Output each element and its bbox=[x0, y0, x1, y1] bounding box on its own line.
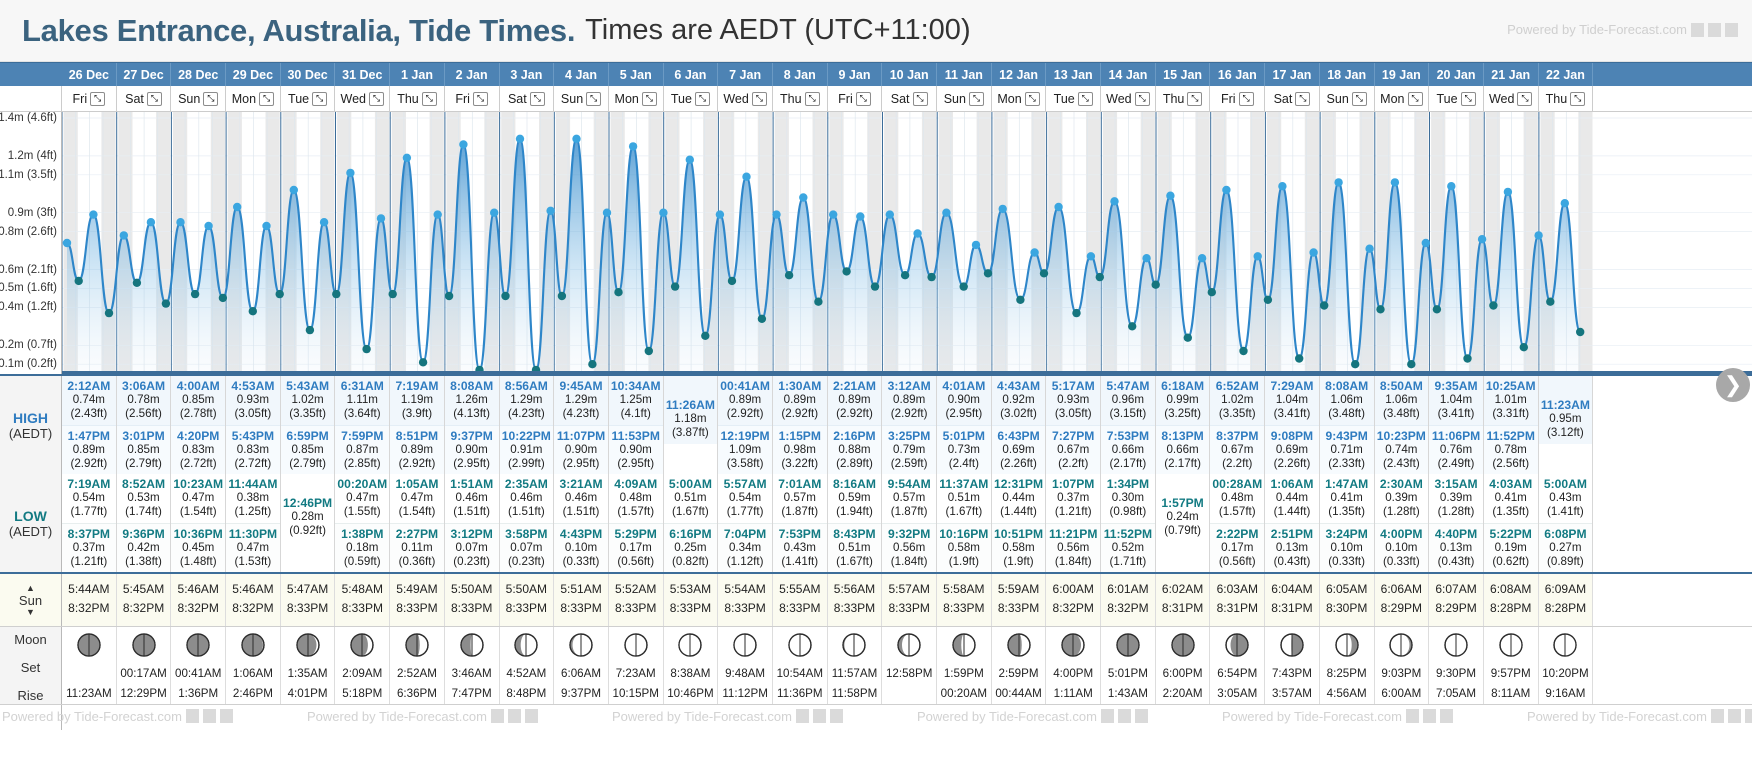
low-tide-height-ft: (1.77ft) bbox=[62, 505, 116, 519]
weekday-label: Mon bbox=[232, 92, 256, 106]
weekday-cell[interactable]: Tue⤡ bbox=[1046, 86, 1101, 111]
date-header-cell[interactable]: 15 Jan bbox=[1156, 63, 1211, 86]
moon-phase-icon bbox=[568, 632, 594, 658]
share-icon[interactable] bbox=[203, 709, 216, 723]
weekday-cell[interactable]: Wed⤡ bbox=[335, 86, 390, 111]
info-icon[interactable] bbox=[1745, 709, 1752, 723]
tide-day-column: 2:30AM0.39m(1.28ft)4:00PM0.10m(0.33ft) bbox=[1375, 474, 1430, 572]
moon-cell: 6:54PM3:05AM bbox=[1210, 627, 1265, 704]
sun-times-cell: 5:47AM8:33PM bbox=[281, 574, 336, 625]
moon-cell: 8:25PM4:56AM bbox=[1320, 627, 1375, 704]
footer-powered-label: Powered by Tide-Forecast.com bbox=[917, 709, 1097, 724]
moon-phase-icon bbox=[1006, 632, 1032, 658]
weekday-cell[interactable]: Sun⤡ bbox=[1320, 86, 1375, 111]
low-tide-height-ft: (1.21ft) bbox=[62, 555, 116, 569]
weekday-label: Thu bbox=[397, 92, 419, 106]
high-tide-height-ft: (2.92ft) bbox=[62, 457, 116, 471]
high-tide-height-m: 0.67m bbox=[1046, 443, 1100, 457]
sunset-time: 8:32PM bbox=[226, 599, 280, 618]
low-tide-entry: 2:35AM0.46m(1.51ft) bbox=[500, 474, 554, 523]
moonset-time: 8:25PM bbox=[1320, 664, 1374, 684]
weekday-cell[interactable]: Fri⤡ bbox=[1210, 86, 1265, 111]
low-tide-entry: 5:57AM0.54m(1.77ft) bbox=[718, 474, 772, 523]
date-axis-spacer bbox=[0, 63, 62, 86]
high-tide-height-ft: (2.4ft) bbox=[937, 457, 991, 471]
low-tide-height-ft: (1.35ft) bbox=[1320, 505, 1374, 519]
share-icon[interactable] bbox=[1118, 709, 1131, 723]
tide-day-column: 9:35AM1.04m(3.41ft)11:06PM0.76m(2.49ft) bbox=[1429, 376, 1484, 474]
low-tide-section: LOW (AEDT) 7:19AM0.54m(1.77ft)8:37PM0.37… bbox=[0, 474, 1752, 572]
low-tide-entry: 9:54AM0.57m(1.87ft) bbox=[882, 474, 936, 523]
high-tide-height-m: 0.79m bbox=[882, 443, 936, 457]
expand-day-icon[interactable]: ⤡ bbox=[1187, 92, 1202, 106]
high-tide-height-m: 0.88m bbox=[828, 443, 882, 457]
high-tide-time: 6:18AM bbox=[1156, 379, 1210, 393]
tide-day-column: 5:00AM0.43m(1.41ft)6:08PM0.27m(0.89ft) bbox=[1539, 474, 1594, 572]
low-tide-height-ft: (1.35ft) bbox=[1484, 505, 1538, 519]
low-tide-height-ft: (1.41ft) bbox=[773, 555, 827, 569]
moonrise-time: 4:56AM bbox=[1320, 684, 1374, 704]
low-tide-height-ft: (1.67ft) bbox=[828, 555, 882, 569]
tide-day-column: 10:23AM0.47m(1.54ft)10:36PM0.45m(1.48ft) bbox=[171, 474, 226, 572]
high-tide-height-m: 0.99m bbox=[1156, 393, 1210, 407]
share-icon[interactable] bbox=[1423, 709, 1436, 723]
low-tide-height-m: 0.58m bbox=[992, 541, 1046, 555]
sunrise-time: 5:58AM bbox=[937, 580, 991, 599]
low-tide-entry: 7:04PM0.34m(1.12ft) bbox=[718, 523, 772, 573]
low-tide-height-m: 0.10m bbox=[1375, 541, 1429, 555]
moon-phase-icon bbox=[1388, 632, 1414, 658]
date-header-cell[interactable]: 11 Jan bbox=[937, 63, 992, 86]
expand-day-icon[interactable]: ⤡ bbox=[752, 92, 767, 106]
tide-day-column: 1:07PM0.37m(1.21ft)11:21PM0.56m(1.84ft) bbox=[1046, 474, 1101, 572]
facebook-icon[interactable] bbox=[796, 709, 809, 723]
high-tide-entry: 2:12AM0.74m(2.43ft) bbox=[62, 376, 116, 425]
info-icon[interactable] bbox=[525, 709, 538, 723]
date-header-cell[interactable]: 14 Jan bbox=[1101, 63, 1156, 86]
high-tide-height-m: 1.06m bbox=[1320, 393, 1374, 407]
moon-cell: 1:06AM2:46PM bbox=[226, 627, 281, 704]
high-tide-height-m: 0.90m bbox=[554, 443, 608, 457]
high-tide-time: 8:13PM bbox=[1156, 429, 1210, 443]
facebook-icon[interactable] bbox=[1691, 23, 1704, 37]
expand-day-icon[interactable]: ⤡ bbox=[1408, 92, 1423, 106]
date-header-cell[interactable]: 29 Dec bbox=[226, 63, 281, 86]
low-tide-height-ft: (1.55ft) bbox=[335, 505, 389, 519]
low-tide-height-m: 0.30m bbox=[1101, 491, 1155, 505]
weekday-cell[interactable]: Mon⤡ bbox=[226, 86, 281, 111]
info-icon[interactable] bbox=[830, 709, 843, 723]
high-tide-entry: 8:37PM0.67m(2.2ft) bbox=[1210, 425, 1264, 475]
high-tide-height-ft: (2.95ft) bbox=[445, 457, 499, 471]
high-tide-time: 8:56AM bbox=[500, 379, 554, 393]
high-tide-time: 7:27PM bbox=[1046, 429, 1100, 443]
low-tide-height-ft: (0.62ft) bbox=[1484, 555, 1538, 569]
expand-day-icon[interactable]: ⤡ bbox=[856, 92, 871, 106]
high-tide-height-m: 0.89m bbox=[62, 443, 116, 457]
low-tide-height-ft: (1.48ft) bbox=[171, 555, 225, 569]
sun-times-cell: 6:07AM8:29PM bbox=[1429, 574, 1484, 625]
date-header-cell[interactable]: 21 Jan bbox=[1484, 63, 1539, 86]
low-tide-entry: 1:47AM0.41m(1.35ft) bbox=[1320, 474, 1374, 523]
facebook-icon[interactable] bbox=[186, 709, 199, 723]
y-axis-tick-label: 0.1m (0.2ft) bbox=[0, 358, 57, 370]
weekday-label: Tue bbox=[1436, 92, 1457, 106]
expand-day-icon[interactable]: ⤡ bbox=[1239, 92, 1254, 106]
sunrise-time: 5:52AM bbox=[609, 580, 663, 599]
low-tide-entry: 1:51AM0.46m(1.51ft) bbox=[445, 474, 499, 523]
moon-section: Moon Set Rise 11:23AM 00:17AM12:29PM 00:… bbox=[0, 626, 1752, 704]
low-tide-time: 8:43PM bbox=[828, 527, 882, 541]
low-tide-height-ft: (1.94ft) bbox=[828, 505, 882, 519]
weekday-cell[interactable]: Tue⤡ bbox=[664, 86, 719, 111]
weekday-cell[interactable]: Thu⤡ bbox=[1156, 86, 1211, 111]
low-tide-height-ft: (0.98ft) bbox=[1101, 505, 1155, 519]
high-tide-height-m: 0.87m bbox=[335, 443, 389, 457]
weekday-cell[interactable]: Sat⤡ bbox=[882, 86, 937, 111]
low-tide-time: 10:23AM bbox=[171, 477, 225, 491]
low-tide-time: 8:37PM bbox=[62, 527, 116, 541]
footer-watermark: Powered by Tide-Forecast.com bbox=[917, 709, 1148, 724]
high-tide-height-ft: (2.92ft) bbox=[718, 407, 772, 421]
high-tide-entry: 11:26AM1.18m(3.87ft) bbox=[664, 376, 718, 444]
expand-day-icon[interactable]: ⤡ bbox=[1078, 92, 1093, 106]
date-header-cell[interactable]: 18 Jan bbox=[1320, 63, 1375, 86]
moon-phase-icon bbox=[896, 632, 922, 658]
tide-day-column: 1:06AM0.44m(1.44ft)2:51PM0.13m(0.43ft) bbox=[1265, 474, 1320, 572]
high-tide-time: 6:52AM bbox=[1210, 379, 1264, 393]
low-tide-time: 1:05AM bbox=[390, 477, 444, 491]
high-tide-entry: 9:35AM1.04m(3.41ft) bbox=[1429, 376, 1483, 425]
date-header-cell[interactable]: 16 Jan bbox=[1210, 63, 1265, 86]
moon-label: Moon Set Rise bbox=[0, 627, 62, 704]
high-tide-height-m: 0.90m bbox=[445, 443, 499, 457]
share-icon[interactable] bbox=[508, 709, 521, 723]
sunset-time: 8:33PM bbox=[445, 599, 499, 618]
moon-cell: 1:35AM4:01PM bbox=[281, 627, 336, 704]
sun-times-cell: 5:56AM8:33PM bbox=[828, 574, 883, 625]
low-tide-entry: 7:19AM0.54m(1.77ft) bbox=[62, 474, 116, 523]
weekday-label: Thu bbox=[780, 92, 802, 106]
weekday-label: Sun bbox=[561, 92, 583, 106]
high-tide-entry: 6:59PM0.85m(2.79ft) bbox=[281, 425, 335, 475]
facebook-icon[interactable] bbox=[1711, 709, 1724, 723]
high-tide-height-m: 1.02m bbox=[281, 393, 335, 407]
tide-day-column: 12:31PM0.44m(1.44ft)10:51PM0.58m(1.9ft) bbox=[992, 474, 1047, 572]
info-icon[interactable] bbox=[1440, 709, 1453, 723]
date-header-row: 26 Dec27 Dec28 Dec29 Dec30 Dec31 Dec1 Ja… bbox=[0, 62, 1752, 86]
low-tide-time: 5:57AM bbox=[718, 477, 772, 491]
tide-day-column: 5:57AM0.54m(1.77ft)7:04PM0.34m(1.12ft) bbox=[718, 474, 773, 572]
moonset-time: 7:43PM bbox=[1265, 664, 1319, 684]
sunrise-time: 5:57AM bbox=[882, 580, 936, 599]
high-tide-height-m: 1.04m bbox=[1429, 393, 1483, 407]
expand-day-icon[interactable]: ⤡ bbox=[695, 92, 710, 106]
moonrise-time: 3:05AM bbox=[1210, 684, 1264, 704]
low-tide-height-m: 0.07m bbox=[500, 541, 554, 555]
moon-cell: 10:20PM9:16AM bbox=[1539, 627, 1594, 704]
high-tide-section: HIGH (AEDT) 2:12AM0.74m(2.43ft)1:47PM0.8… bbox=[0, 374, 1752, 474]
low-tide-height-ft: (1.67ft) bbox=[937, 505, 991, 519]
weekday-cell[interactable]: Thu⤡ bbox=[390, 86, 445, 111]
high-tide-entry: 6:18AM0.99m(3.25ft) bbox=[1156, 376, 1210, 425]
expand-day-icon[interactable]: ⤡ bbox=[369, 92, 384, 106]
expand-day-icon[interactable]: ⤡ bbox=[1570, 92, 1585, 106]
date-header-cell[interactable]: 4 Jan bbox=[554, 63, 609, 86]
weekday-cell[interactable]: Thu⤡ bbox=[773, 86, 828, 111]
high-tide-entry: 10:22PM0.91m(2.99ft) bbox=[500, 425, 554, 475]
low-tide-entry: 00:28AM0.48m(1.57ft) bbox=[1210, 474, 1264, 523]
weekday-cell[interactable]: Wed⤡ bbox=[1484, 86, 1539, 111]
sunrise-time: 6:07AM bbox=[1429, 580, 1483, 599]
expand-day-icon[interactable]: ⤡ bbox=[147, 92, 162, 106]
weekday-label: Tue bbox=[288, 92, 309, 106]
sun-times-cell: 5:45AM8:32PM bbox=[117, 574, 172, 625]
low-tide-entry: 5:29PM0.17m(0.56ft) bbox=[609, 523, 663, 573]
info-icon[interactable] bbox=[1135, 709, 1148, 723]
moonrise-time: 2:20AM bbox=[1156, 684, 1210, 704]
expand-day-icon[interactable]: ⤡ bbox=[530, 92, 545, 106]
tide-day-column: 7:19AM1.19m(3.9ft)8:51PM0.89m(2.92ft) bbox=[390, 376, 445, 474]
share-icon[interactable] bbox=[1728, 709, 1741, 723]
high-tide-time: 3:25PM bbox=[882, 429, 936, 443]
high-tide-time: 3:01PM bbox=[117, 429, 171, 443]
sunset-time: 8:33PM bbox=[281, 599, 335, 618]
high-tide-time: 2:21AM bbox=[828, 379, 882, 393]
expand-day-icon[interactable]: ⤡ bbox=[473, 92, 488, 106]
info-icon[interactable] bbox=[220, 709, 233, 723]
high-tide-height-m: 0.98m bbox=[773, 443, 827, 457]
expand-day-icon[interactable]: ⤡ bbox=[586, 92, 601, 106]
date-header-cell[interactable]: 12 Jan bbox=[992, 63, 1047, 86]
low-tide-height-m: 0.46m bbox=[445, 491, 499, 505]
facebook-icon[interactable] bbox=[1101, 709, 1114, 723]
date-header-cell[interactable]: 5 Jan bbox=[609, 63, 664, 86]
moonrise-time: 00:44AM bbox=[992, 684, 1046, 704]
moonset-time: 00:41AM bbox=[171, 664, 225, 684]
low-tide-entry: 4:03AM0.41m(1.35ft) bbox=[1484, 474, 1538, 523]
next-days-button[interactable]: ❯ bbox=[1716, 368, 1750, 402]
weekday-cell[interactable]: Sun⤡ bbox=[937, 86, 992, 111]
low-tide-time: 11:44AM bbox=[226, 477, 280, 491]
moon-phase-icon bbox=[1060, 632, 1086, 658]
powered-by-header: Powered by Tide-Forecast.com bbox=[1507, 22, 1738, 37]
low-tide-entry: 11:52PM0.52m(1.71ft) bbox=[1101, 523, 1155, 573]
date-header-cell[interactable]: 8 Jan bbox=[773, 63, 828, 86]
moonset-time: 8:38AM bbox=[664, 664, 718, 684]
high-tide-time: 3:06AM bbox=[117, 379, 171, 393]
moonset-time: 1:59PM bbox=[937, 664, 991, 684]
expand-day-icon[interactable]: ⤡ bbox=[312, 92, 327, 106]
low-tide-height-m: 0.41m bbox=[1484, 491, 1538, 505]
expand-day-icon[interactable]: ⤡ bbox=[203, 92, 218, 106]
moonset-time: 2:52AM bbox=[390, 664, 444, 684]
sun-times-cell: 6:06AM8:29PM bbox=[1375, 574, 1430, 625]
moon-phase-icon bbox=[1334, 632, 1360, 658]
low-tide-entry: 11:37AM0.51m(1.67ft) bbox=[937, 474, 991, 523]
moon-cell: 11:57AM11:58PM bbox=[828, 627, 883, 704]
weekday-axis-spacer bbox=[0, 86, 62, 111]
low-tide-time: 11:30PM bbox=[226, 527, 280, 541]
high-tide-time: 5:17AM bbox=[1046, 379, 1100, 393]
date-header-cell[interactable]: 9 Jan bbox=[828, 63, 883, 86]
high-tide-time: 00:41AM bbox=[718, 379, 772, 393]
weekday-cell[interactable]: Mon⤡ bbox=[609, 86, 664, 111]
tide-day-column: 7:29AM1.04m(3.41ft)9:08PM0.69m(2.26ft) bbox=[1265, 376, 1320, 474]
high-tide-height-ft: (2.99ft) bbox=[500, 457, 554, 471]
date-header-cell[interactable]: 30 Dec bbox=[281, 63, 336, 86]
footer-watermarks: Powered by Tide-Forecast.comPowered by T… bbox=[62, 705, 1752, 730]
high-tide-height-m: 1.06m bbox=[1375, 393, 1429, 407]
weekday-label: Mon bbox=[997, 92, 1021, 106]
weekday-cell[interactable]: Sat⤡ bbox=[500, 86, 555, 111]
expand-day-icon[interactable]: ⤡ bbox=[1517, 92, 1532, 106]
expand-day-icon[interactable]: ⤡ bbox=[1025, 92, 1040, 106]
expand-day-icon[interactable]: ⤡ bbox=[422, 92, 437, 106]
low-tide-time: 2:51PM bbox=[1265, 527, 1319, 541]
expand-day-icon[interactable]: ⤡ bbox=[642, 92, 657, 106]
expand-day-icon[interactable]: ⤡ bbox=[90, 92, 105, 106]
low-tide-height-ft: (1.9ft) bbox=[992, 555, 1046, 569]
high-tide-height-ft: (4.13ft) bbox=[445, 407, 499, 421]
weekday-cell[interactable]: Mon⤡ bbox=[1375, 86, 1430, 111]
sunrise-time: 5:44AM bbox=[62, 580, 116, 599]
weekday-cell[interactable]: Tue⤡ bbox=[281, 86, 336, 111]
weekday-cell[interactable]: Sat⤡ bbox=[1265, 86, 1320, 111]
date-header-cell[interactable]: 19 Jan bbox=[1375, 63, 1430, 86]
facebook-icon[interactable] bbox=[1406, 709, 1419, 723]
high-tide-time: 7:53PM bbox=[1101, 429, 1155, 443]
sunset-arrow-icon: ▼ bbox=[26, 608, 35, 617]
date-header-cell[interactable]: 13 Jan bbox=[1046, 63, 1101, 86]
date-header-cell[interactable]: 27 Dec bbox=[117, 63, 172, 86]
sunset-time: 8:31PM bbox=[1210, 599, 1264, 618]
weekday-cell[interactable]: Fri⤡ bbox=[828, 86, 883, 111]
expand-day-icon[interactable]: ⤡ bbox=[1352, 92, 1367, 106]
moon-cell: 9:48AM11:12PM bbox=[718, 627, 773, 704]
low-tide-height-m: 0.53m bbox=[117, 491, 171, 505]
weekday-label: Wed bbox=[1106, 92, 1131, 106]
low-tide-height-ft: (1.54ft) bbox=[171, 505, 225, 519]
weekday-cell[interactable]: Wed⤡ bbox=[1101, 86, 1156, 111]
date-header-cell[interactable]: 28 Dec bbox=[171, 63, 226, 86]
high-tide-height-m: 1.02m bbox=[1210, 393, 1264, 407]
high-tide-time: 6:59PM bbox=[281, 429, 335, 443]
high-tide-entry: 11:07PM0.90m(2.95ft) bbox=[554, 425, 608, 475]
low-tide-time: 1:06AM bbox=[1265, 477, 1319, 491]
expand-day-icon[interactable]: ⤡ bbox=[1135, 92, 1150, 106]
weekday-cell[interactable]: Sun⤡ bbox=[554, 86, 609, 111]
weekday-cell[interactable]: Tue⤡ bbox=[1429, 86, 1484, 111]
low-tide-entry: 3:12PM0.07m(0.23ft) bbox=[445, 523, 499, 573]
high-tide-height-m: 0.89m bbox=[773, 393, 827, 407]
date-header-cell[interactable]: 3 Jan bbox=[500, 63, 555, 86]
expand-day-icon[interactable]: ⤡ bbox=[805, 92, 820, 106]
low-tide-height-ft: (0.79ft) bbox=[1156, 524, 1210, 538]
weekday-cell[interactable]: Sat⤡ bbox=[117, 86, 172, 111]
low-tide-height-m: 0.27m bbox=[1539, 541, 1593, 555]
moon-phase-icon bbox=[513, 632, 539, 658]
low-tide-time: 1:34PM bbox=[1101, 477, 1155, 491]
date-header-cell[interactable]: 1 Jan bbox=[390, 63, 445, 86]
low-tide-height-m: 0.13m bbox=[1265, 541, 1319, 555]
low-tide-entry: 9:36PM0.42m(1.38ft) bbox=[117, 523, 171, 573]
date-header-cell[interactable]: 26 Dec bbox=[62, 63, 117, 86]
expand-day-icon[interactable]: ⤡ bbox=[259, 92, 274, 106]
facebook-icon[interactable] bbox=[491, 709, 504, 723]
moonset-time: 2:09AM bbox=[335, 664, 389, 684]
date-header-cell[interactable]: 31 Dec bbox=[335, 63, 390, 86]
low-tide-time: 1:57PM bbox=[1156, 496, 1210, 510]
info-icon[interactable] bbox=[1725, 23, 1738, 37]
high-tide-time: 11:53PM bbox=[609, 429, 663, 443]
tide-day-column: 8:08AM1.06m(3.48ft)9:43PM0.71m(2.33ft) bbox=[1320, 376, 1375, 474]
date-header-cell[interactable]: 2 Jan bbox=[445, 63, 500, 86]
sunset-time: 8:32PM bbox=[1101, 599, 1155, 618]
low-tide-time: 7:53PM bbox=[773, 527, 827, 541]
tide-day-column: 3:15AM0.39m(1.28ft)4:40PM0.13m(0.43ft) bbox=[1429, 474, 1484, 572]
sun-times-cell: 5:50AM8:33PM bbox=[500, 574, 555, 625]
low-tide-height-ft: (0.23ft) bbox=[500, 555, 554, 569]
low-tide-time: 3:15AM bbox=[1429, 477, 1483, 491]
high-tide-height-ft: (2.33ft) bbox=[1320, 457, 1374, 471]
high-tide-height-ft: (2.95ft) bbox=[554, 457, 608, 471]
expand-day-icon[interactable]: ⤡ bbox=[1295, 92, 1310, 106]
moon-phase-icon bbox=[349, 632, 375, 658]
weekday-cell[interactable]: Fri⤡ bbox=[62, 86, 117, 111]
weekday-cell[interactable]: Sun⤡ bbox=[171, 86, 226, 111]
moon-cell: 4:52AM8:48PM bbox=[500, 627, 555, 704]
date-header-cell[interactable]: 6 Jan bbox=[664, 63, 719, 86]
share-icon[interactable] bbox=[813, 709, 826, 723]
weekday-cell[interactable]: Thu⤡ bbox=[1539, 86, 1594, 111]
date-header-cell[interactable]: 20 Jan bbox=[1429, 63, 1484, 86]
tide-day-column: 1:47AM0.41m(1.35ft)3:24PM0.10m(0.33ft) bbox=[1320, 474, 1375, 572]
date-header-cell[interactable]: 17 Jan bbox=[1265, 63, 1320, 86]
expand-day-icon[interactable]: ⤡ bbox=[913, 92, 928, 106]
weekday-cell[interactable]: Fri⤡ bbox=[445, 86, 500, 111]
tide-day-column: 11:37AM0.51m(1.67ft)10:16PM0.58m(1.9ft) bbox=[937, 474, 992, 572]
weekday-cell[interactable]: Mon⤡ bbox=[992, 86, 1047, 111]
low-tide-height-m: 0.41m bbox=[1320, 491, 1374, 505]
high-tide-time: 2:16PM bbox=[828, 429, 882, 443]
expand-day-icon[interactable]: ⤡ bbox=[1461, 92, 1476, 106]
high-tide-time: 6:43PM bbox=[992, 429, 1046, 443]
moon-cell: 5:01PM1:43AM bbox=[1101, 627, 1156, 704]
high-tide-height-m: 0.76m bbox=[1429, 443, 1483, 457]
high-tide-height-ft: (3.05ft) bbox=[226, 407, 280, 421]
tide-day-column: 00:20AM0.47m(1.55ft)1:38PM0.18m(0.59ft) bbox=[335, 474, 390, 572]
date-header-cell[interactable]: 10 Jan bbox=[882, 63, 937, 86]
tide-day-column: 1:30AM0.89m(2.92ft)1:15PM0.98m(3.22ft) bbox=[773, 376, 828, 474]
high-tide-entry: 00:41AM0.89m(2.92ft) bbox=[718, 376, 772, 425]
low-tide-height-m: 0.48m bbox=[1210, 491, 1264, 505]
high-tide-entry: 2:16PM0.88m(2.89ft) bbox=[828, 425, 882, 475]
high-tide-height-m: 0.83m bbox=[171, 443, 225, 457]
high-tide-time: 11:06PM bbox=[1429, 429, 1483, 443]
weekday-cell[interactable]: Wed⤡ bbox=[718, 86, 773, 111]
date-header-cell[interactable]: 7 Jan bbox=[718, 63, 773, 86]
low-tide-entry: 2:30AM0.39m(1.28ft) bbox=[1375, 474, 1429, 523]
date-header-cell[interactable]: 22 Jan bbox=[1539, 63, 1594, 86]
sunrise-time: 5:59AM bbox=[992, 580, 1046, 599]
share-icon[interactable] bbox=[1708, 23, 1721, 37]
low-tide-height-m: 0.57m bbox=[773, 491, 827, 505]
footer-powered-label: Powered by Tide-Forecast.com bbox=[1222, 709, 1402, 724]
low-tide-time: 6:16PM bbox=[664, 527, 718, 541]
tide-day-column: 1:51AM0.46m(1.51ft)3:12PM0.07m(0.23ft) bbox=[445, 474, 500, 572]
expand-day-icon[interactable]: ⤡ bbox=[969, 92, 984, 106]
